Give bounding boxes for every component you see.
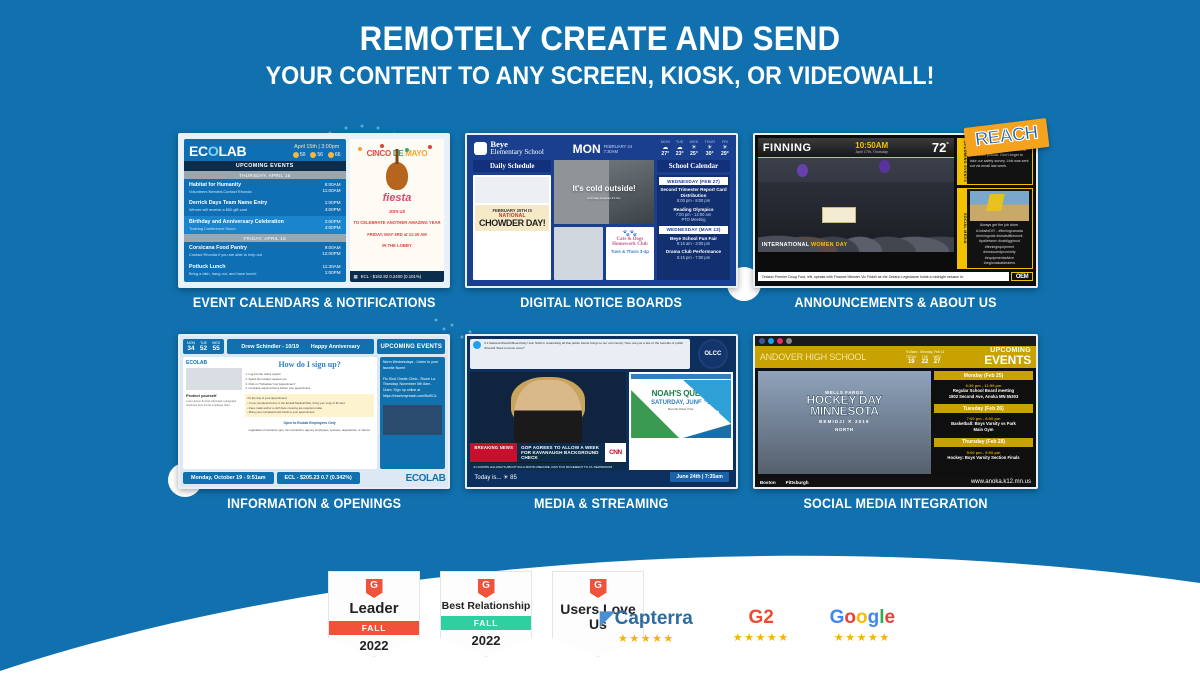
weather-day: TUE52 xyxy=(200,341,207,352)
event-time: 1:00PM4:00PM xyxy=(325,200,341,212)
daily-schedule-column: Daily Schedule FEBRUARY 25TH IS NATIONAL… xyxy=(473,160,551,280)
doc-brand: ECOLAB xyxy=(186,360,242,366)
poster-line2: TO CELEBRATE ANOTHER AMAZING YEAR xyxy=(350,220,445,226)
caption-digital-notice-boards: DIGITAL NOTICE BOARDS xyxy=(475,295,728,310)
card-announcements[interactable]: REACH FINNING 10:50AM April 17th, Thursd… xyxy=(753,133,1038,310)
balloon-icon xyxy=(797,164,808,177)
event-row: Corsicana Food PantryContact Rhonda if y… xyxy=(184,242,346,260)
hockey-network: NORTH xyxy=(782,427,907,432)
event-time: 8:00AM11:00AM xyxy=(322,182,340,194)
oem-logo: OEM xyxy=(1011,272,1033,281)
badge-year: 2022 xyxy=(329,638,419,653)
event-sub: Volunteers Needed-Contact Rhonda xyxy=(189,189,252,194)
confetti-dot xyxy=(428,145,432,149)
badge-ribbon: FALL xyxy=(329,621,419,635)
headline-primary: REMOTELY CREATE AND SEND xyxy=(48,22,1152,58)
card-digital-notice-boards[interactable]: BeyeElementary School MON FEBRUARY 247:3… xyxy=(465,133,737,310)
doc-steps: 1. Log into the online system 2. Select … xyxy=(245,372,373,391)
doc-body-text: Lorem ipsum flu shot information paragra… xyxy=(186,400,242,408)
doc-protect-heading: Protect yourself xyxy=(186,393,242,398)
poster-graphic xyxy=(629,380,733,438)
facebook-icon[interactable] xyxy=(759,338,765,344)
g2-logo: G2 xyxy=(733,607,790,629)
hockey-title-2: MINNESOTA xyxy=(782,406,907,417)
forecast-day: TUE☁23° xyxy=(676,140,684,157)
info-events-sidebar: Norm Wednesdays - Listen to your favorit… xyxy=(380,357,446,469)
balloon-icon xyxy=(879,160,890,173)
social-icon-bar xyxy=(755,336,1036,346)
news-crawl: 21 KNOWN HALLWAYS ABOUT IDA A MONTH BEFO… xyxy=(470,463,625,470)
poster-title: CINCO DE MAYO fiesta JOIN US TO CELEBRAT… xyxy=(350,139,445,249)
info-event-1: Norm Wednesdays - Listen to your favorit… xyxy=(383,360,443,372)
screen-ecolab-calendar[interactable]: ECOLAB April 15th | 3:00pm 50 56 66 UPCO… xyxy=(178,133,450,288)
weather-chip-0: 50 xyxy=(293,152,306,158)
weather-chip-1: 56 xyxy=(310,152,323,158)
screen-finning-announcements[interactable]: FINNING 10:50AM April 17th, Thursday 72° xyxy=(753,133,1038,288)
news-headline: GOP AGREES TO ALLOW A WEEK FOR KAVANAUGH… xyxy=(517,443,605,462)
badge-shield: G Leader FALL 2022 xyxy=(328,571,420,657)
anniversary-name: Drew Schindler - 10/19 xyxy=(241,344,299,350)
info-event-2: Flu Shot Onsite Clinic - Room La Thursda… xyxy=(383,377,443,400)
finning-logo: FINNING xyxy=(763,142,812,154)
olcc-seal: OLCC xyxy=(693,339,733,369)
event-title: Potluck Lunch xyxy=(189,264,257,270)
day-header-2: FRIDAY, APRIL 16 xyxy=(184,234,346,242)
family-photo xyxy=(554,227,603,280)
noahs-quest-poster: NOAH'S QUEST SATURDAY, JUNE 22 Bemidji W… xyxy=(629,372,733,470)
calendar-event: Second Trimester Report Card Distributio… xyxy=(659,187,728,204)
clock-time: 10:50AM xyxy=(855,141,888,150)
daily-schedule-header: Daily Schedule xyxy=(473,160,551,172)
calendar-header: ECOLAB April 15th | 3:00pm 50 56 66 xyxy=(184,139,346,161)
today-date: FEBRUARY 247:30AM xyxy=(604,144,632,154)
badge-year: 2022 xyxy=(441,633,531,648)
media-mid: BREAKING NEWS GOP AGREES TO ALLOW A WEEK… xyxy=(470,372,732,470)
event-title: Derrick Days Team Name Entry xyxy=(189,200,267,206)
forecast-day: THUR☀30° xyxy=(704,140,715,157)
info-body: ECOLAB Protect yourself Lorem ipsum flu … xyxy=(183,357,445,469)
confetti-dot xyxy=(380,144,384,148)
andover-weather: 9:43am - Monday, Feb 11 TODAY19 TUE22 WE… xyxy=(906,350,944,365)
weather-day: MON34 xyxy=(187,341,195,352)
event-row: Potluck LunchBring a dish, hang out, and… xyxy=(184,261,346,279)
today-day: MON xyxy=(573,142,601,156)
upcoming-events-header: UPCOMING EVENTS xyxy=(184,161,346,171)
forecast-day: WED☀25° xyxy=(690,140,699,157)
calendar-datetime-wx: April 15th | 3:00pm 50 56 66 xyxy=(293,144,341,158)
doc-headline: How do I sign up? xyxy=(245,360,373,369)
g2-icon: G xyxy=(590,579,607,598)
doc-eligibility-sub: regardless of insurance type. No contrac… xyxy=(245,428,373,433)
pets-title: Cats & Dogs Homework Club xyxy=(606,237,655,247)
cold-outside-text: It's cold outside!And stay because it's … xyxy=(572,184,635,200)
screen-andover-social[interactable]: ANDOVER HIGH SCHOOL 9:43am - Monday, Feb… xyxy=(753,334,1038,489)
twitter-icon xyxy=(473,341,481,349)
breaking-news-label: BREAKING NEWS xyxy=(470,443,517,462)
forecast-day: MON☁27° xyxy=(661,140,670,157)
pets-days: Tues & Thurs 3-4p xyxy=(606,249,655,254)
sun-icon xyxy=(293,152,299,158)
cinco-de-mayo-poster: CINCO DE MAYO fiesta JOIN US TO CELEBRAT… xyxy=(350,139,445,282)
ecolab-logo: ECOLAB xyxy=(189,143,246,159)
media-pair: 🐾🐾 Cats & Dogs Homework Club Tues & Thur… xyxy=(554,227,654,280)
sun-icon xyxy=(310,152,316,158)
event-sub: Winner will receive a $50 gift card xyxy=(189,207,267,212)
poster-fiesta: fiesta xyxy=(350,192,445,204)
chowder-title: CHOWDER DAY! xyxy=(476,219,548,228)
poster-line4: IN THE LOBBY xyxy=(350,243,445,249)
forecast-day: TODAY19 xyxy=(906,355,917,365)
sun-icon xyxy=(328,152,334,158)
info-header: MON34 TUE52 WED55 Drew Schindler - 10/19… xyxy=(183,339,445,354)
calendar-weather: 50 56 66 xyxy=(293,152,341,158)
event-row: Habitat for HumanityVolunteers Needed-Co… xyxy=(184,179,346,197)
school-title: ANDOVER HIGH SCHOOL xyxy=(760,352,866,362)
screen-media-streaming[interactable]: It's National #GetOnBoard Day! Join SAM … xyxy=(465,334,737,489)
today-block: MON FEBRUARY 247:30AM xyxy=(573,142,632,156)
doc-photo xyxy=(186,368,242,390)
school-calendar-header: School Calendar xyxy=(657,160,730,172)
photo-caption: INTERNATIONAL WOMEN DAY xyxy=(762,242,848,248)
badge-name: Best Relationship xyxy=(441,601,531,612)
finning-clock: 10:50AM April 17th, Thursday xyxy=(855,141,888,154)
excavator-photo xyxy=(970,191,1029,221)
media-column: It's cold outside!And stay because it's … xyxy=(554,160,654,280)
info-upcoming-header: UPCOMING EVENTS xyxy=(377,339,445,354)
review-g2: G2 ★★★★★ xyxy=(733,607,790,645)
calendar-event: Beye School Fun Fair9:15 am - 3:00 pm xyxy=(659,236,728,247)
g2-badges: G Leader FALL 2022 G Best Relationship F… xyxy=(328,571,644,657)
poster-topbar xyxy=(631,374,731,379)
google-logo: Google xyxy=(830,607,895,629)
sun-icon: ☀ xyxy=(721,144,729,151)
event-day-header: Thursday (Feb 28) xyxy=(934,438,1033,447)
card-event-calendars[interactable]: ECOLAB April 15th | 3:00pm 50 56 66 UPCO… xyxy=(178,133,450,310)
badge-leader: G Leader FALL 2022 xyxy=(328,571,420,657)
school-logo: BeyeElementary School xyxy=(474,140,543,156)
info-weather: MON34 TUE52 WED55 xyxy=(183,339,224,354)
badge-shield: G Best Relationship FALL 2022 xyxy=(440,571,532,657)
screens-row-top: ECOLAB April 15th | 3:00pm 50 56 66 UPCO… xyxy=(178,133,1038,310)
calendar-left-panel: ECOLAB April 15th | 3:00pm 50 56 66 UPCO… xyxy=(184,139,346,282)
flu-shot-document: ECOLAB Protect yourself Lorem ipsum flu … xyxy=(183,357,377,469)
andover-datetime: 9:43am - Monday, Feb 11 xyxy=(906,350,944,354)
review-capterra: ◤Capterra ★★★★★ xyxy=(600,607,693,645)
cold-outside-card: It's cold outside!And stay because it's … xyxy=(554,160,654,224)
screen-beye-elementary[interactable]: BeyeElementary School MON FEBRUARY 247:3… xyxy=(465,133,737,288)
clock-date: April 17th, Thursday xyxy=(855,150,888,154)
news-chyron: BREAKING NEWS GOP AGREES TO ALLOW A WEEK… xyxy=(470,443,625,462)
finning-main: FINNING 10:50AM April 17th, Thursday 72° xyxy=(758,138,954,269)
event-row: Derrick Days Team Name EntryWinner will … xyxy=(184,197,346,215)
event-title: Habitat for Humanity xyxy=(189,182,252,188)
andover-body: WELLS FARGO HOCKEY DAY MINNESOTA BEMIDJI… xyxy=(755,368,1036,477)
hockey-day-photo: WELLS FARGO HOCKEY DAY MINNESOTA BEMIDJI… xyxy=(758,371,931,474)
calendar-datetime: April 15th | 3:00pm xyxy=(293,144,341,150)
andover-header: ANDOVER HIGH SCHOOL 9:43am - Monday, Feb… xyxy=(755,346,1036,368)
poster-line1: JOIN US xyxy=(350,209,445,215)
g2-icon: G xyxy=(478,579,495,598)
event-block: 5:00 pm - 9:00 pm Hockey: Boys Varsity S… xyxy=(934,449,1033,464)
finning-ticker-row: Ontario Premier Doug Ford, left, speaks … xyxy=(758,272,1033,281)
review-google: Google ★★★★★ xyxy=(830,607,895,645)
notice-header: BeyeElementary School MON FEBRUARY 247:3… xyxy=(470,138,732,160)
forecast-day: WED27 xyxy=(933,355,940,365)
google-stars: ★★★★★ xyxy=(830,631,895,644)
andover-forecast: TODAY19 TUE22 WED27 xyxy=(906,355,944,365)
chowder-day-flyer: FEBRUARY 25TH IS NATIONAL CHOWDER DAY! xyxy=(475,205,549,231)
event-sub: Training Conference Room xyxy=(189,226,284,231)
headline-block: REMOTELY CREATE AND SEND YOUR CONTENT TO… xyxy=(0,22,1200,89)
hockey-sub: BEMIDJI ✕ 2019 xyxy=(782,419,907,425)
screen-ecolab-info[interactable]: MON34 TUE52 WED55 Drew Schindler - 10/19… xyxy=(178,334,450,489)
finning-header: FINNING 10:50AM April 17th, Thursday 72° xyxy=(758,138,954,158)
confetti-dot xyxy=(358,147,362,151)
badge-best-relationship: G Best Relationship FALL 2022 xyxy=(440,571,532,657)
doc-highlight: On the day of your appointment: • If you… xyxy=(245,394,373,417)
media-top: It's National #GetOnBoard Day! Join SAM … xyxy=(470,339,732,369)
anniversary-banner: Drew Schindler - 10/19 Happy Anniversary xyxy=(227,339,374,354)
event-day-header: Tuesday (Feb 26) xyxy=(934,404,1033,413)
group-photo: INTERNATIONAL WOMEN DAY xyxy=(758,158,954,252)
notice-body: Daily Schedule FEBRUARY 25TH IS NATIONAL… xyxy=(470,160,732,283)
doc-right-column: How do I sign up? 1. Log into the online… xyxy=(245,360,373,466)
caption-event-calendars: EVENT CALENDARS & NOTIFICATIONS xyxy=(188,295,441,310)
doc-left-column: ECOLAB Protect yourself Lorem ipsum flu … xyxy=(186,360,242,466)
cloud-icon: ☁ xyxy=(676,144,684,151)
live-stream-video[interactable]: BREAKING NEWS GOP AGREES TO ALLOW A WEEK… xyxy=(470,372,625,470)
school-calendar-body: WEDNESDAY (FEB 27) Second Trimester Repo… xyxy=(657,175,730,280)
oversized-check xyxy=(822,207,856,223)
instagram-icon[interactable] xyxy=(777,338,783,344)
forecast-day: FRI☀29° xyxy=(721,140,729,157)
event-block: 7:00 pm - 8:00 pm Basketball: Boys Varsi… xyxy=(934,415,1033,435)
social-media-tab: SOCIAL MEDIA xyxy=(958,189,967,268)
guitar-icon xyxy=(386,162,408,190)
capterra-logo: ◤Capterra xyxy=(600,607,693,630)
forecast-strip: MON☁27° TUE☁23° WED☀25° THUR☀30° FRI☀29° xyxy=(661,140,729,157)
doc-eligibility: Open to Ecolab Employees Only xyxy=(245,421,373,425)
social-post-text: Always get the job done. #JobsiteDIY - #… xyxy=(970,223,1029,266)
screens-grid: ECOLAB April 15th | 3:00pm 50 56 66 UPCO… xyxy=(178,133,1038,511)
social-media-panel: SOCIAL MEDIA Always get the job done. #J… xyxy=(957,188,1033,269)
weather-chip-2: 66 xyxy=(328,152,341,158)
info-sidebar-photo xyxy=(383,405,443,435)
event-title: Corsicana Food Pantry xyxy=(189,245,262,251)
finning-sidebar: UPCOMING EVENTS CORPORATE Every Friday j… xyxy=(957,138,1033,269)
schedule-table xyxy=(475,177,549,203)
cnn-logo: CNN xyxy=(605,443,626,462)
event-time: 2:00PM4:00PM xyxy=(325,219,341,231)
mascot-icon xyxy=(474,142,487,155)
capterra-stars: ★★★★★ xyxy=(600,632,693,645)
stock-ticker: ▦ ECL - $182.82 0.2400 (0.101%) xyxy=(350,271,445,282)
day-header-1: THURSDAY, APRIL 15 xyxy=(184,171,346,179)
rss-icon[interactable] xyxy=(786,338,792,344)
finning-temp: 72° xyxy=(932,140,949,155)
weather-day: WED55 xyxy=(212,341,220,352)
anniversary-text: Happy Anniversary xyxy=(311,344,360,350)
school-name: BeyeElementary School xyxy=(490,140,543,156)
review-logos: ◤Capterra ★★★★★ G2 ★★★★★ Google ★★★★★ xyxy=(600,607,895,645)
chart-icon: ▦ xyxy=(354,274,358,280)
confetti-dot xyxy=(405,148,409,152)
event-row: Birthday and Anniversary CelebrationTrai… xyxy=(184,216,346,234)
event-sub: Contact Rhonda if you are able to help o… xyxy=(189,252,262,257)
calendar-event: Reading Olympics7:00 pm - 12:00 amPTO Me… xyxy=(659,207,728,223)
social-post: Always get the job done. #JobsiteDIY - #… xyxy=(967,189,1032,268)
sun-icon: ☀ xyxy=(690,144,699,151)
slide-root: REMOTELY CREATE AND SEND YOUR CONTENT TO… xyxy=(0,0,1200,675)
finning-top: FINNING 10:50AM April 17th, Thursday 72° xyxy=(758,138,1033,269)
pets-icons: 🐾🐾 xyxy=(606,230,655,237)
g2-stars: ★★★★★ xyxy=(733,631,790,644)
event-day-header: Monday (Feb 25) xyxy=(934,371,1033,380)
andover-events-column: Monday (Feb 25) 6:30 pm - 11:59 pm Regul… xyxy=(934,371,1033,474)
event-time: 9:00AM12:00PM xyxy=(322,245,340,257)
twitter-icon[interactable] xyxy=(768,338,774,344)
g2-icon: G xyxy=(366,579,383,598)
calendar-day-header: WEDNESDAY (FEB 27) xyxy=(659,177,728,185)
event-sub: Bring a dish, hang out, and have lunch! xyxy=(189,271,257,276)
event-time: 11:30AM1:00PM xyxy=(322,264,340,276)
event-block: 6:30 pm - 11:59 pm Regular School Board … xyxy=(934,382,1033,402)
calendar-event: Drama Club Performance5:15 pm - 7:00 pm xyxy=(659,249,728,260)
sun-icon: ☀ xyxy=(704,144,715,151)
cloud-icon: ☁ xyxy=(661,144,670,151)
pets-club-flyer: 🐾🐾 Cats & Dogs Homework Club Tues & Thur… xyxy=(606,227,655,280)
schedule-document: FEBRUARY 25TH IS NATIONAL CHOWDER DAY! xyxy=(473,175,551,280)
news-ticker: Ontario Premier Doug Ford, left, speaks … xyxy=(758,272,1009,281)
andover-upcoming-title: UPCOMING EVENTS xyxy=(984,348,1031,366)
hockey-day-logo: WELLS FARGO HOCKEY DAY MINNESOTA BEMIDJI… xyxy=(782,390,907,432)
badge-ribbon: FALL xyxy=(441,616,531,630)
event-title: Birthday and Anniversary Celebration xyxy=(189,219,284,225)
calendar-day-header: WEDNESDAY (MAR 13) xyxy=(659,226,728,234)
caption-announcements: ANNOUNCEMENTS & ABOUT US xyxy=(763,295,1028,310)
badge-name: Leader xyxy=(329,601,419,617)
cold-outside-sub: And stay because it's fun. xyxy=(572,196,635,200)
poster-line3: FRIDAY, MAY 3RD at 11:30 AM xyxy=(350,232,445,238)
capterra-icon: ◤ xyxy=(600,608,615,629)
tweet-text: It's National #GetOnBoard Day! Join SAM … xyxy=(484,341,686,367)
tweet-card: It's National #GetOnBoard Day! Join SAM … xyxy=(470,339,689,369)
school-calendar-column: School Calendar WEDNESDAY (FEB 27) Secon… xyxy=(657,160,730,280)
headline-secondary: YOUR CONTENT TO ANY SCREEN, KIOSK, OR VI… xyxy=(42,63,1158,89)
forecast-day: TUE22 xyxy=(922,355,929,365)
